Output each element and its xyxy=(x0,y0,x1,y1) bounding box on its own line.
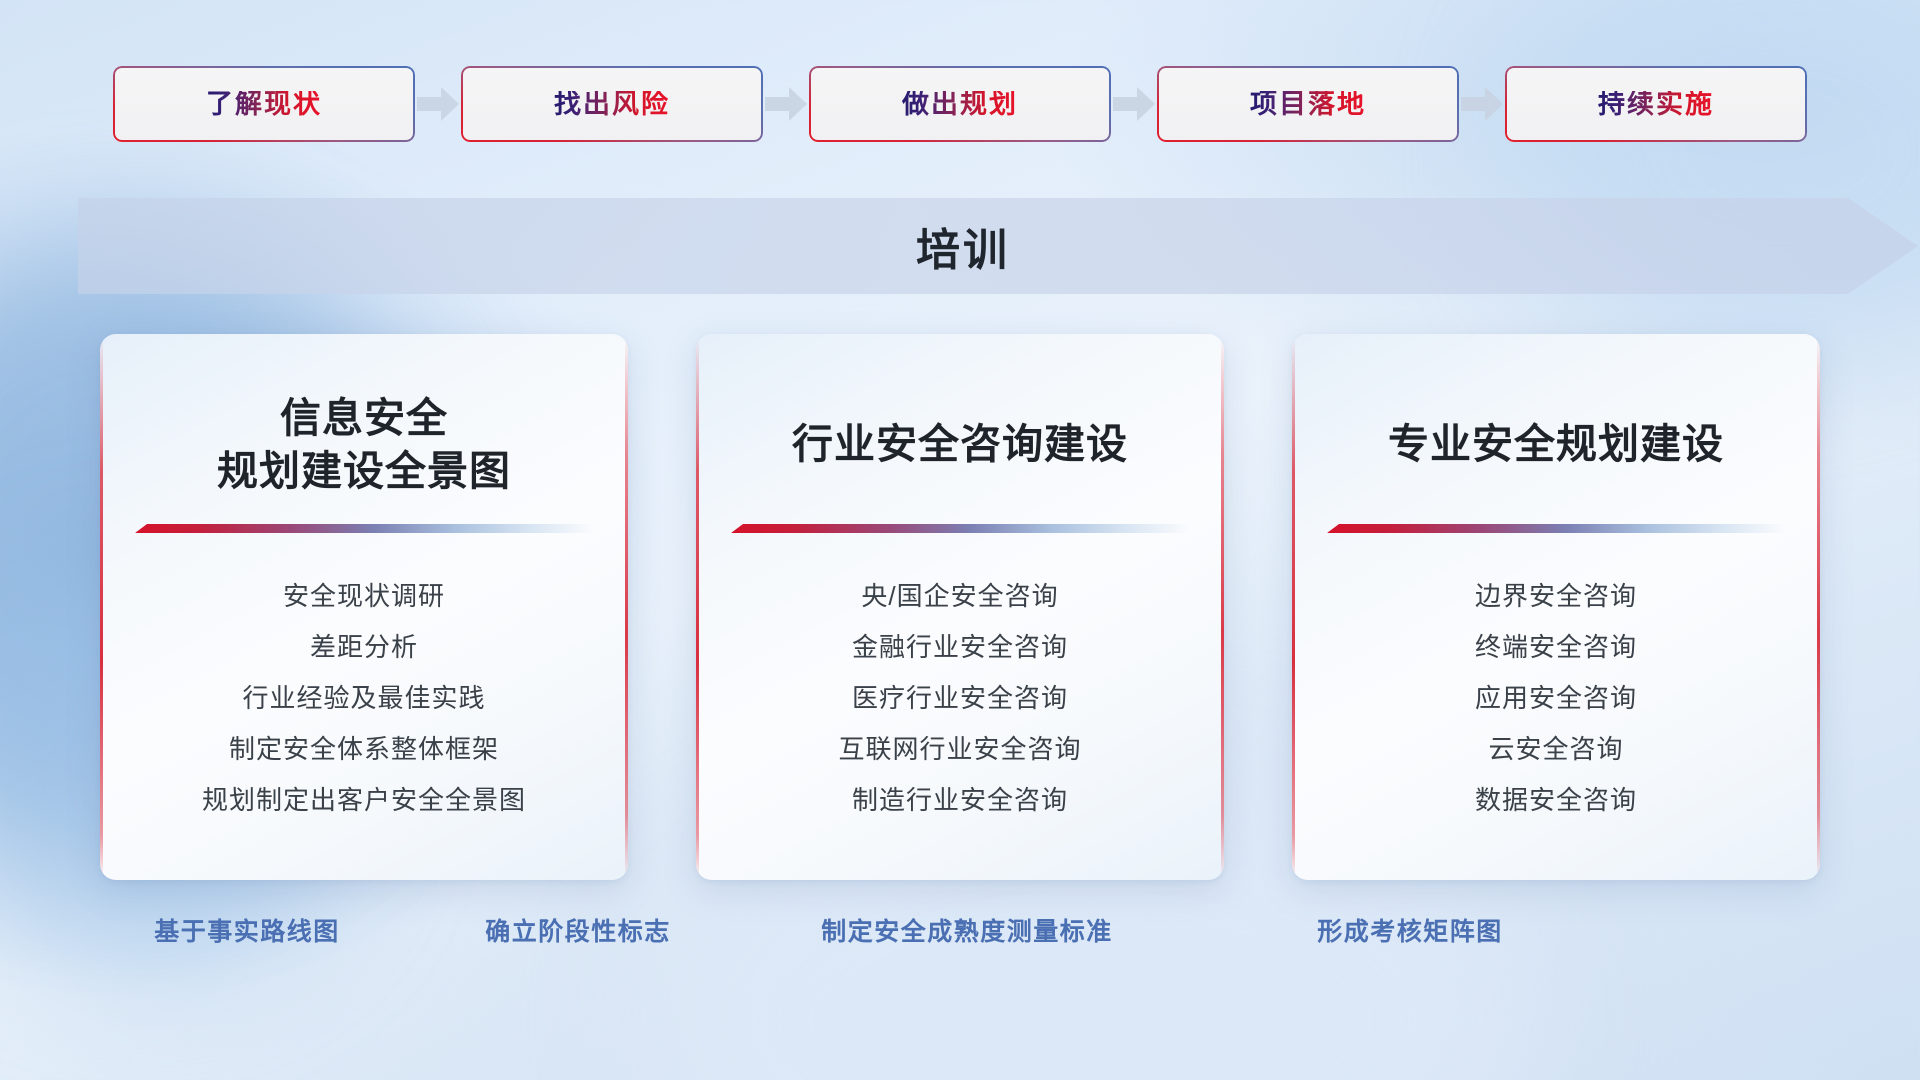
step-label: 了解现状 xyxy=(206,91,322,118)
card-title: 专业安全规划建设 xyxy=(1388,390,1724,500)
caption-roadmap: 基于事实路线图 xyxy=(154,912,340,948)
step-label: 找出风险 xyxy=(554,91,670,118)
list-item: 行业经验及最佳实践 xyxy=(242,673,485,724)
card-title-line-1: 行业安全咨询建设 xyxy=(792,418,1128,471)
caption-maturity: 制定安全成熟度测量标准 xyxy=(821,912,1113,948)
list-item: 规划制定出客户安全全景图 xyxy=(202,775,526,826)
step-label: 持续实施 xyxy=(1598,91,1714,118)
card-title: 信息安全 规划建设全景图 xyxy=(217,390,511,500)
list-item: 互联网行业安全咨询 xyxy=(838,724,1081,775)
card-information-security-blueprint[interactable]: 信息安全 规划建设全景图 安全现状调研 差距分析 行业经验及最佳实践 制定安全体… xyxy=(100,334,628,880)
card-item-list: 边界安全咨询 终端安全咨询 应用安全咨询 云安全咨询 数据安全咨询 xyxy=(1475,571,1637,826)
list-item: 央/国企安全咨询 xyxy=(861,571,1058,622)
card-title-line-1: 专业安全规划建设 xyxy=(1388,418,1724,471)
list-item: 制造行业安全咨询 xyxy=(852,775,1068,826)
card-title: 行业安全咨询建设 xyxy=(792,390,1128,500)
card-title-line-2: 规划建设全景图 xyxy=(217,445,511,498)
card-left-accent xyxy=(1292,334,1295,880)
card-left-accent xyxy=(100,334,103,880)
step-button-3[interactable]: 做出规划 xyxy=(809,66,1111,142)
card-title-line-1: 信息安全 xyxy=(217,392,511,445)
card-professional-security-planning[interactable]: 专业安全规划建设 边界安全咨询 终端安全咨询 应用安全咨询 云安全咨询 数据安全… xyxy=(1292,334,1820,880)
list-item: 终端安全咨询 xyxy=(1475,622,1637,673)
card-industry-security-consulting[interactable]: 行业安全咨询建设 央/国企安全咨询 金融行业安全咨询 医疗行业安全咨询 互联网行… xyxy=(696,334,1224,880)
step-button-2[interactable]: 找出风险 xyxy=(461,66,763,142)
step-button-5[interactable]: 持续实施 xyxy=(1505,66,1807,142)
list-item: 应用安全咨询 xyxy=(1475,673,1637,724)
card-item-list: 安全现状调研 差距分析 行业经验及最佳实践 制定安全体系整体框架 规划制定出客户… xyxy=(202,571,526,826)
list-item: 数据安全咨询 xyxy=(1475,775,1637,826)
step-button-1[interactable]: 了解现状 xyxy=(113,66,415,142)
arrow-right-icon xyxy=(1111,84,1157,124)
card-item-list: 央/国企安全咨询 金融行业安全咨询 医疗行业安全咨询 互联网行业安全咨询 制造行… xyxy=(838,571,1081,826)
list-item: 医疗行业安全咨询 xyxy=(852,673,1068,724)
card-divider xyxy=(1327,524,1785,533)
caption-matrix: 形成考核矩阵图 xyxy=(1317,912,1503,948)
background-blob xyxy=(1520,0,1920,360)
step-label: 做出规划 xyxy=(902,91,1018,118)
arrow-right-icon xyxy=(1459,84,1505,124)
list-item: 云安全咨询 xyxy=(1488,724,1623,775)
list-item: 安全现状调研 xyxy=(283,571,445,622)
step-label: 项目落地 xyxy=(1250,91,1366,118)
banner-title: 培训 xyxy=(78,198,1918,294)
card-left-accent xyxy=(696,334,699,880)
caption-row: 基于事实路线图 确立阶段性标志 制定安全成熟度测量标准 形成考核矩阵图 xyxy=(0,912,1920,960)
list-item: 金融行业安全咨询 xyxy=(852,622,1068,673)
list-item: 差距分析 xyxy=(310,622,418,673)
card-row: 信息安全 规划建设全景图 安全现状调研 差距分析 行业经验及最佳实践 制定安全体… xyxy=(0,334,1920,894)
slide-canvas: 了解现状 找出风险 做出规划 项目落地 持续实施 培训 xyxy=(0,0,1920,1080)
list-item: 边界安全咨询 xyxy=(1475,571,1637,622)
step-button-4[interactable]: 项目落地 xyxy=(1157,66,1459,142)
caption-milestones: 确立阶段性标志 xyxy=(485,912,671,948)
process-step-row: 了解现状 找出风险 做出规划 项目落地 持续实施 xyxy=(0,66,1920,142)
training-banner: 培训 xyxy=(78,198,1918,294)
list-item: 制定安全体系整体框架 xyxy=(229,724,499,775)
card-divider xyxy=(135,524,593,533)
arrow-right-icon xyxy=(415,84,461,124)
arrow-right-icon xyxy=(763,84,809,124)
card-divider xyxy=(731,524,1189,533)
